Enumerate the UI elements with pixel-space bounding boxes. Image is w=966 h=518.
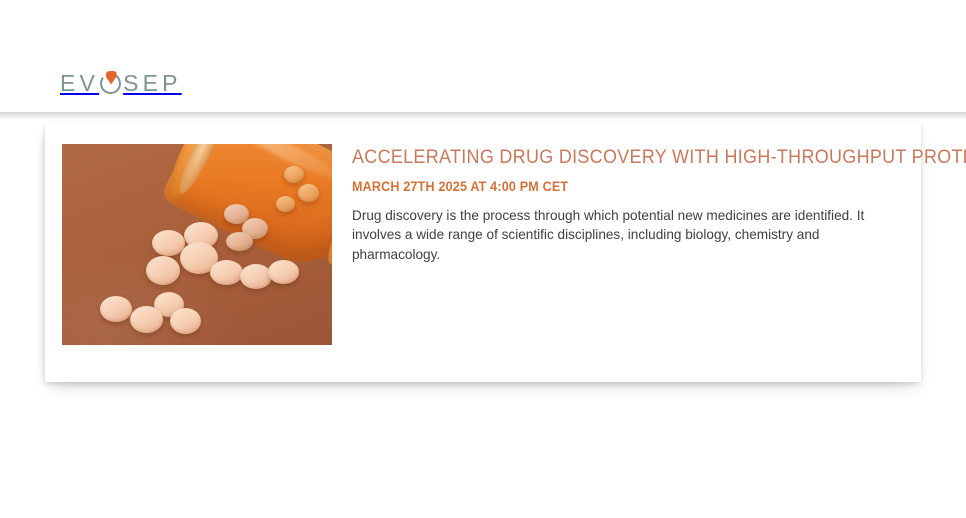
evosep-logo[interactable]: EV SEP: [60, 68, 182, 98]
pill: [170, 308, 201, 334]
event-content: ACCELERATING DRUG DISCOVERY WITH HIGH-TH…: [352, 146, 904, 264]
event-date: MARCH 27TH 2025 AT 4:00 PM CET: [352, 179, 865, 195]
pill: [284, 166, 304, 183]
event-card-inner: ACCELERATING DRUG DISCOVERY WITH HIGH-TH…: [45, 122, 921, 382]
pill-bottle-highlight: [235, 144, 332, 188]
logo-text-before: EV: [60, 72, 99, 95]
event-card[interactable]: ACCELERATING DRUG DISCOVERY WITH HIGH-TH…: [45, 122, 921, 382]
logo-text-after: SEP: [123, 72, 182, 95]
pill: [268, 260, 299, 284]
pill: [210, 260, 243, 285]
event-title[interactable]: ACCELERATING DRUG DISCOVERY WITH HIGH-TH…: [352, 146, 860, 169]
header-divider: [0, 112, 966, 119]
site-header: EV SEP: [0, 0, 966, 113]
pill: [298, 184, 319, 202]
pill: [130, 306, 163, 333]
pill: [276, 196, 295, 212]
pill: [146, 256, 180, 285]
page-root: EV SEP: [0, 0, 966, 518]
pill-bottle-photo: [62, 144, 332, 345]
pill: [226, 232, 253, 251]
event-thumbnail[interactable]: [62, 144, 332, 345]
droplet-in-circle-icon: [100, 72, 122, 95]
event-description: Drug discovery is the process through wh…: [352, 206, 900, 264]
pill: [100, 296, 132, 322]
pill-bottle-base: [321, 182, 332, 268]
pill: [240, 264, 272, 289]
